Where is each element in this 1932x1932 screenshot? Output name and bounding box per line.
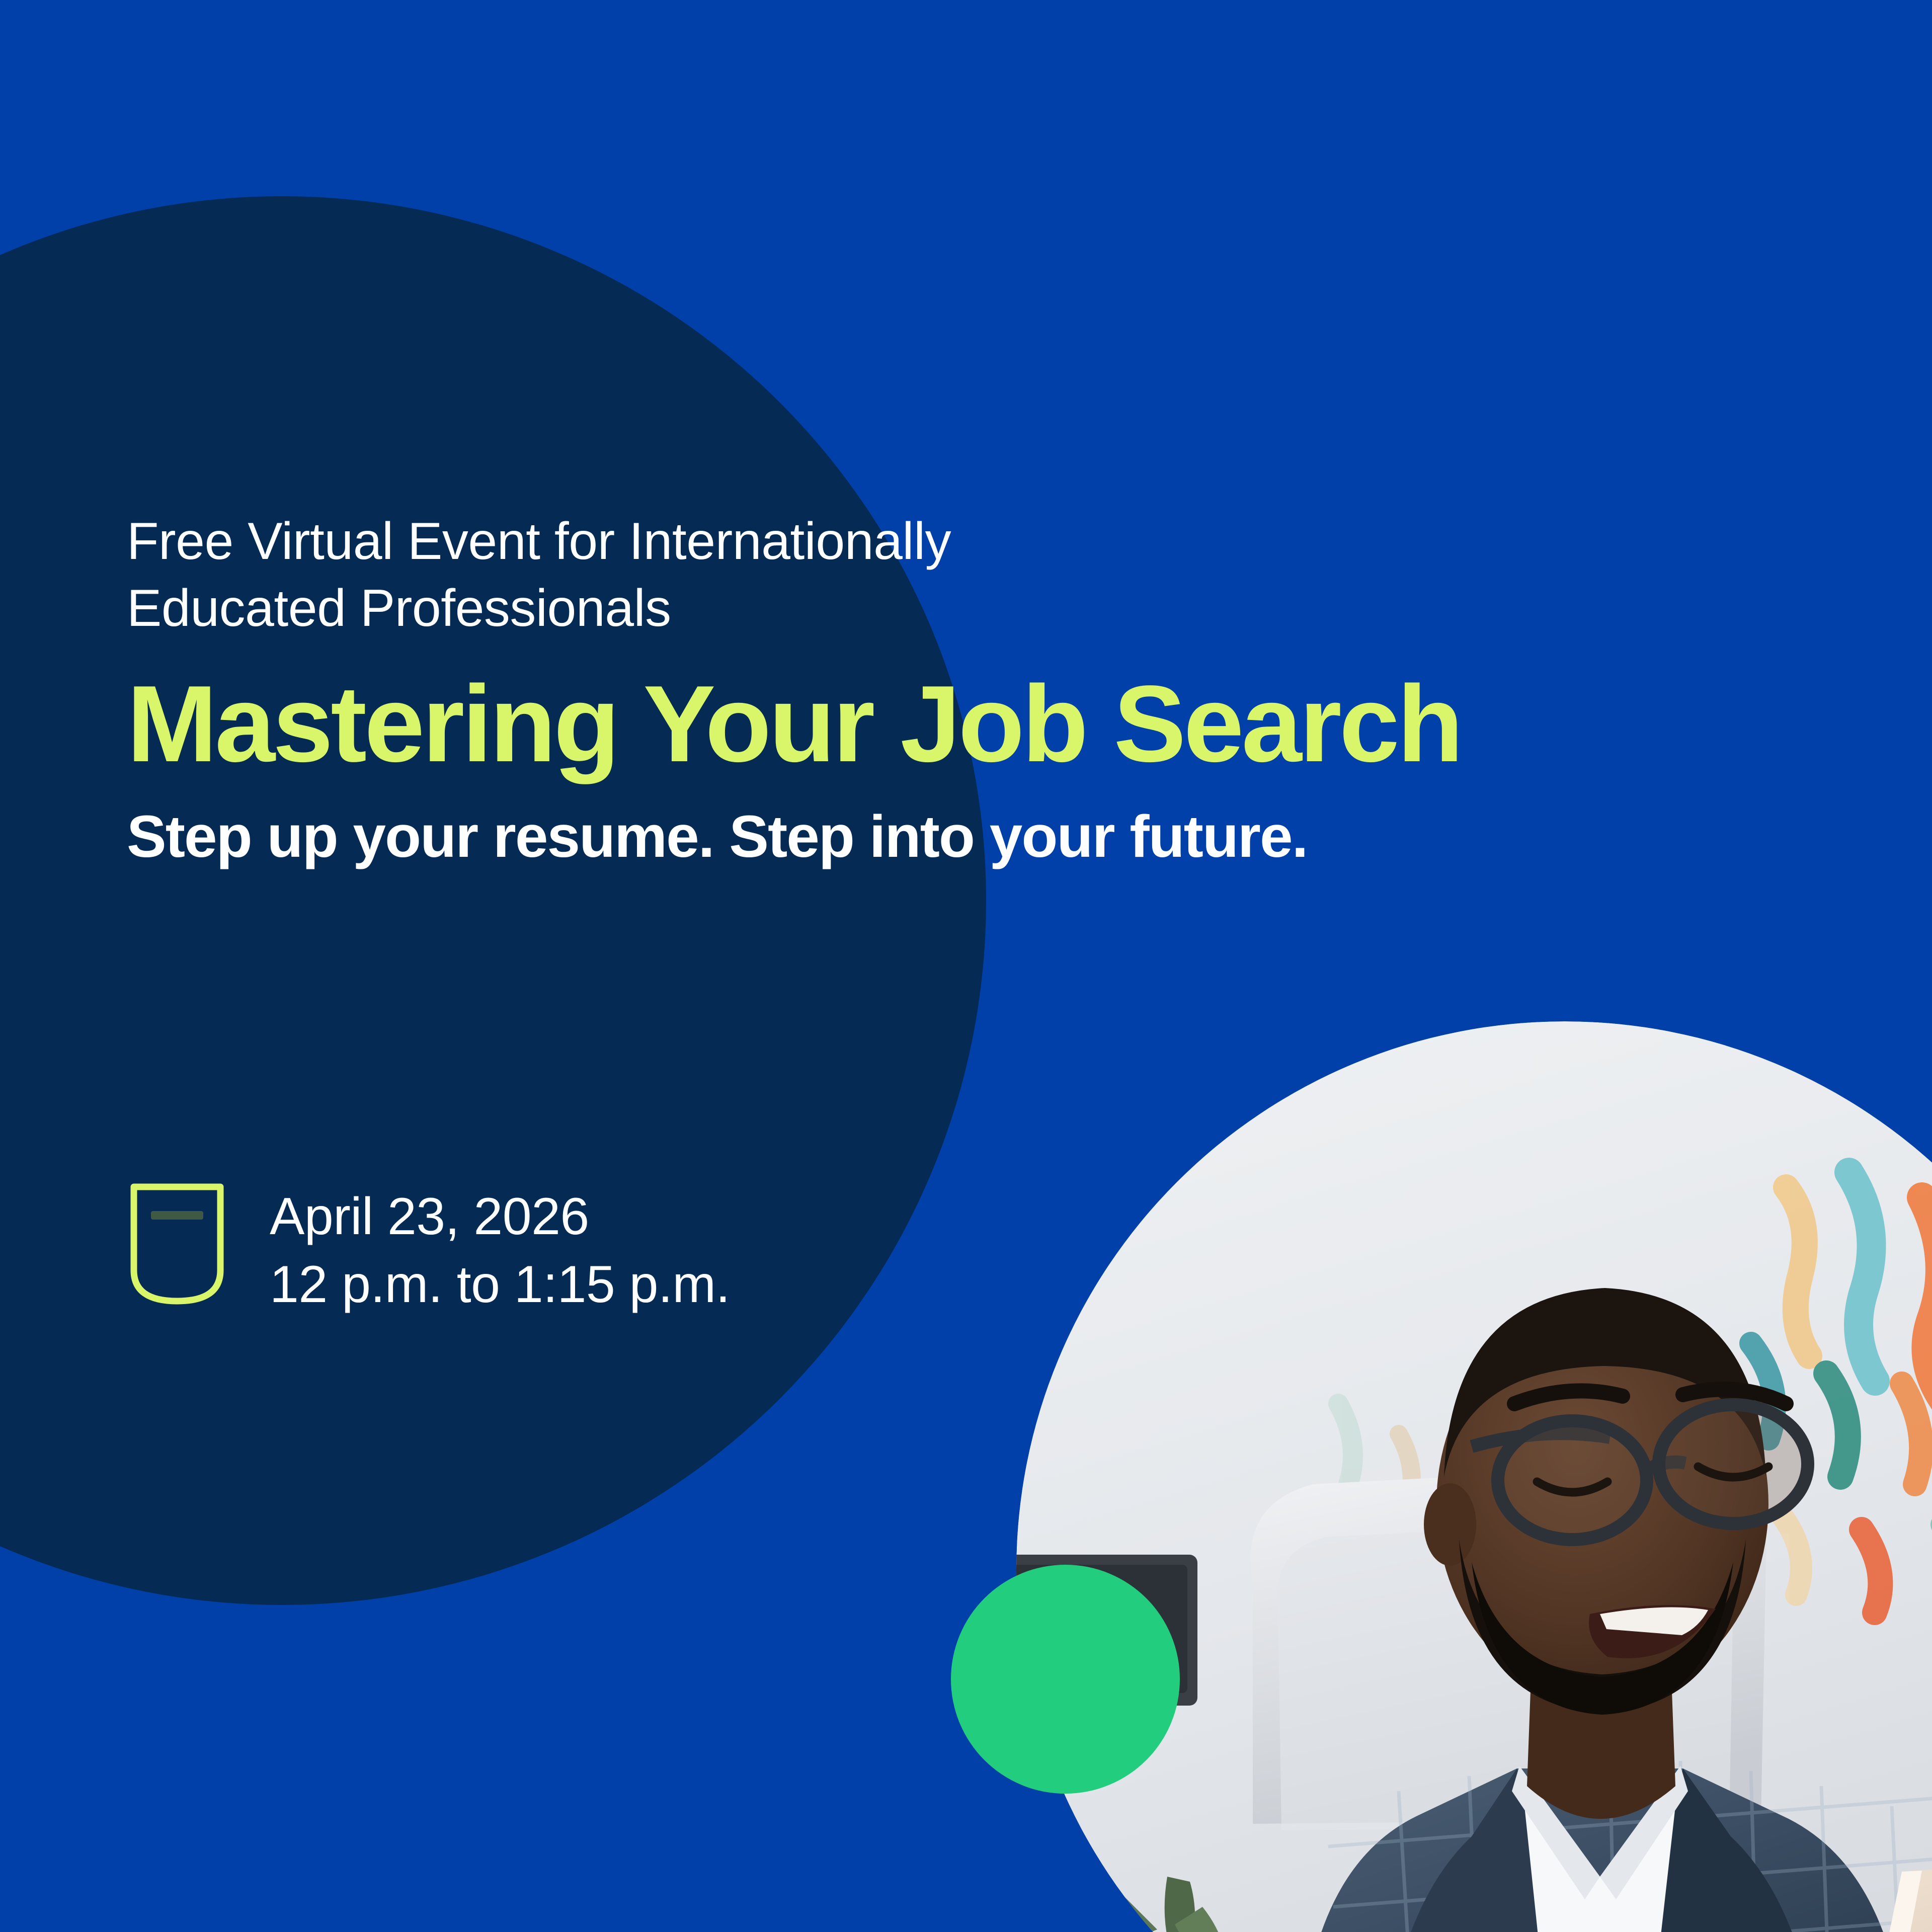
event-datetime: April 23, 2026 12 p.m. to 1:15 p.m. [270,1180,730,1319]
event-details-row: April 23, 2026 12 p.m. to 1:15 p.m. [127,1180,730,1319]
calendar-icon [127,1180,227,1308]
green-accent-circle [951,1565,1180,1794]
page-title: Mastering Your Job Search [127,666,1807,781]
subtitle-text: Step up your resume. Step into your futu… [127,803,1807,870]
eyebrow-text: Free Virtual Event for Internationally E… [127,508,1807,642]
event-promo-poster: Free Virtual Event for Internationally E… [0,0,1932,1932]
poster-text-block: Free Virtual Event for Internationally E… [127,508,1807,870]
